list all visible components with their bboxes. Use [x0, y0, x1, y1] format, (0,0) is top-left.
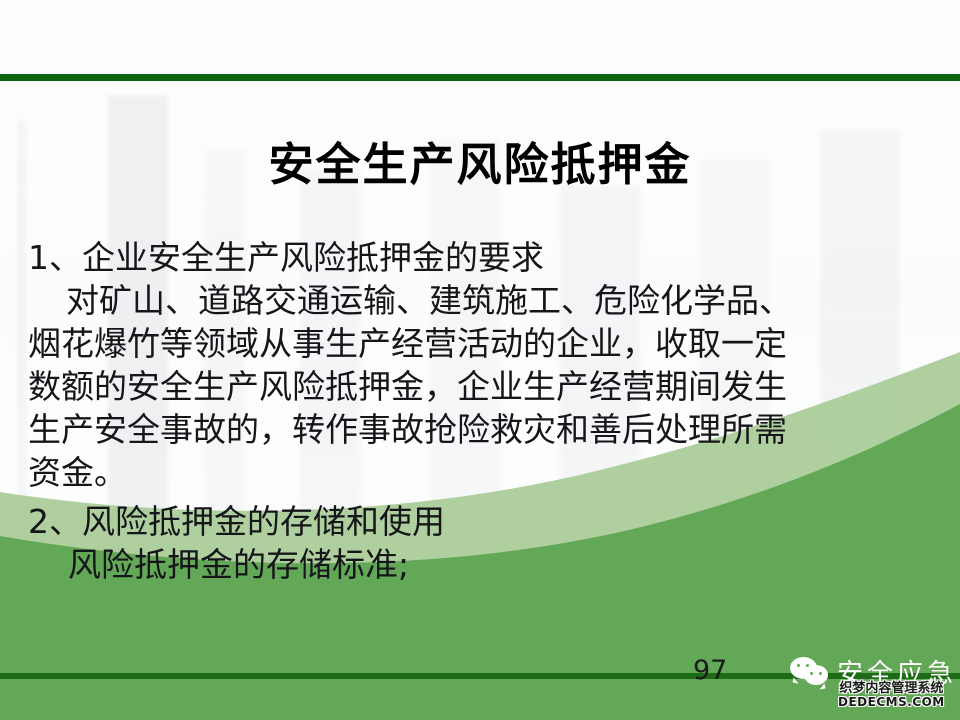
wechat-dot — [797, 664, 800, 667]
wechat-icon — [790, 657, 830, 687]
paragraph-line: 生产安全事故的，转作事故抢险救灾和善后处理所需 — [28, 408, 940, 451]
paragraph-line: 对矿山、道路交通运输、建筑施工、危险化学品、 — [28, 279, 940, 322]
paragraph-line: 数额的安全生产风险抵押金，企业生产经营期间发生 — [28, 365, 940, 408]
section-1-paragraph: 对矿山、道路交通运输、建筑施工、危险化学品、 烟花爆竹等领域从事生产经营活动的企… — [28, 279, 940, 494]
watermark-english: DEDECMS.COM — [838, 696, 945, 708]
watermark-chinese: 织梦内容管理系统 — [838, 682, 945, 695]
slide-canvas: 安全生产风险抵押金 1、企业安全生产风险抵押金的要求 对矿山、道路交通运输、建筑… — [0, 0, 960, 720]
page-title: 安全生产风险抵押金 — [0, 140, 960, 190]
section-2-heading: 2、风险抵押金的存储和使用 — [28, 500, 940, 543]
section-1-heading: 1、企业安全生产风险抵押金的要求 — [28, 236, 940, 279]
wechat-dot — [810, 672, 813, 675]
wechat-dot — [819, 672, 822, 675]
section-2-sub-item: 风险抵押金的存储标准; — [28, 543, 940, 586]
slide-body: 1、企业安全生产风险抵押金的要求 对矿山、道路交通运输、建筑施工、危险化学品、 … — [28, 236, 940, 586]
page-number: 97 — [693, 655, 727, 686]
paragraph-line: 烟花爆竹等领域从事生产经营活动的企业，收取一定 — [28, 322, 940, 365]
wechat-bubble-small — [804, 665, 828, 685]
watermark: 织梦内容管理系统 DEDECMS.COM — [838, 682, 945, 708]
wechat-dot — [806, 664, 809, 667]
paragraph-line: 资金。 — [28, 451, 940, 494]
